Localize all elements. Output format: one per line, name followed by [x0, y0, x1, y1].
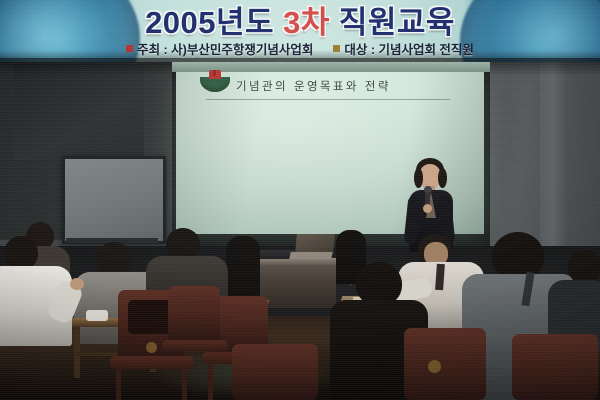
chair-leg-2	[182, 366, 187, 400]
presenter-hair-left	[414, 168, 423, 188]
microphone-head-icon	[424, 186, 432, 193]
banner-title-session: 3차	[283, 0, 330, 42]
presenter-hair-right	[438, 168, 447, 188]
banner-host-text: 주최 : 사)부산민주항쟁기념사업회	[137, 39, 313, 58]
slide-title: 기념관의 운영목표와 전략	[236, 78, 391, 94]
banner-title: 2005년도 3차 직원교육	[0, 1, 600, 37]
bullet-square-gold-icon	[333, 45, 340, 52]
chair-seat	[162, 340, 228, 351]
chair-leg-1	[116, 366, 121, 400]
upper-board-panel	[14, 64, 144, 160]
attendee-head	[492, 232, 544, 280]
event-banner: 2005년도 3차 직원교육 주최 : 사)부산민주항쟁기념사업회 대상 : 기…	[0, 0, 600, 62]
chair-backrest	[404, 328, 486, 400]
seminar-photograph: 2005년도 3차 직원교육 주최 : 사)부산민주항쟁기념사업회 대상 : 기…	[0, 0, 600, 400]
banner-title-subject: 직원교육	[339, 0, 455, 42]
attendee-hand	[70, 278, 84, 290]
background-silhouette-left	[226, 236, 260, 296]
laptop-base	[289, 252, 332, 259]
chair-rivet	[146, 342, 157, 353]
attendee-head	[96, 242, 132, 276]
banner-host-info: 주최 : 사)부산민주항쟁기념사업회	[126, 39, 313, 58]
chair-rivet	[428, 360, 441, 373]
chair-backrest	[232, 344, 318, 400]
wall-pillar	[540, 60, 566, 265]
paper-cup	[86, 310, 108, 321]
banner-title-year: 2005년도	[145, 0, 274, 42]
bullet-square-red-icon	[126, 45, 133, 52]
chair-backrest	[512, 334, 598, 400]
front-table-top	[252, 258, 340, 265]
slide-logo-notch-icon	[213, 70, 216, 76]
attendee-head	[568, 250, 600, 284]
banner-audience-text: 대상 : 기념사업회 전직원	[344, 39, 474, 58]
presenter-hand	[423, 204, 432, 213]
slide-title-underline	[206, 99, 450, 100]
attendee-head	[4, 236, 38, 270]
banner-audience-info: 대상 : 기념사업회 전직원	[333, 39, 474, 58]
whiteboard	[62, 156, 166, 244]
chair-leg-1	[208, 362, 213, 400]
laptop-screen	[295, 234, 335, 254]
banner-subline: 주최 : 사)부산민주항쟁기념사업회 대상 : 기념사업회 전직원	[0, 38, 600, 58]
chair-backrest	[168, 286, 220, 344]
